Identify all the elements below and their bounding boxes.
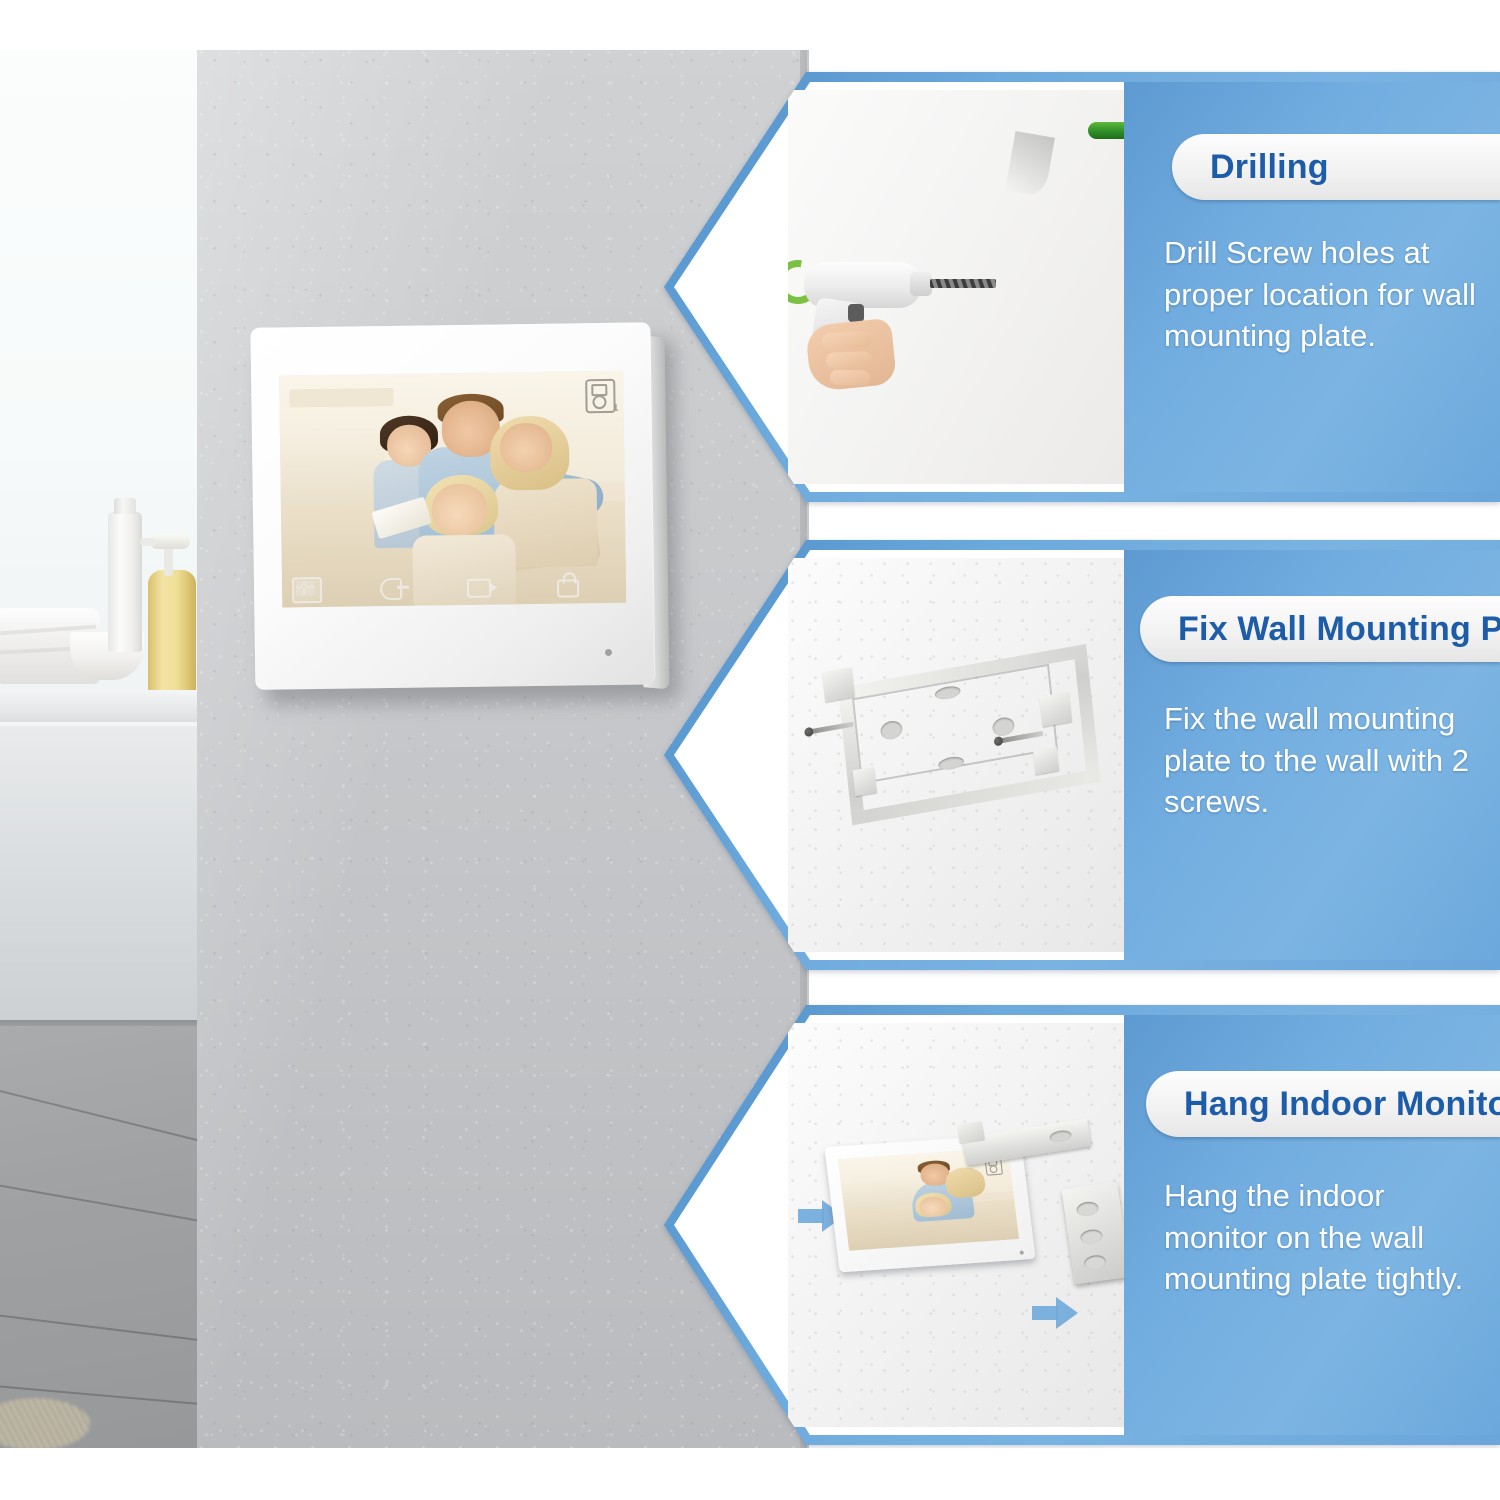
drill-bit bbox=[930, 279, 996, 288]
direction-arrow-tail-right bbox=[1032, 1306, 1058, 1320]
top-white-margin bbox=[0, 0, 1500, 50]
screen-photo bbox=[279, 371, 626, 608]
step-title-pill-hang-monitor: Hang Indoor Monitor bbox=[1146, 1071, 1500, 1137]
panel-text-area: Hang Indoor Monitor Hang the indoor moni… bbox=[1124, 1015, 1500, 1435]
monitor-microphone bbox=[605, 649, 612, 656]
step-panel-fix-plate[interactable]: Fix Wall Mounting Plate Fix the wall mou… bbox=[664, 540, 1500, 970]
photo-child-two-body bbox=[412, 535, 516, 606]
grid-icon[interactable] bbox=[292, 577, 322, 603]
finger bbox=[821, 330, 872, 350]
step-panel-hang-monitor[interactable]: Hang Indoor Monitor Hang the indoor moni… bbox=[664, 1005, 1500, 1445]
step-title-hang-monitor: Hang Indoor Monitor bbox=[1146, 1085, 1500, 1124]
step-description-fix-plate: Fix the wall mounting plate to the wall … bbox=[1164, 698, 1492, 823]
vanity-counter-front bbox=[0, 726, 200, 1026]
unlock-key-glyph bbox=[380, 578, 402, 600]
plate-keyhole-middle bbox=[1080, 1228, 1104, 1245]
camera-icon[interactable] bbox=[466, 575, 496, 601]
camera-glyph bbox=[467, 579, 491, 598]
step-title-pill-drilling: Drilling bbox=[1172, 134, 1500, 200]
direction-arrow-right bbox=[1056, 1297, 1078, 1329]
panel-text-area: Drilling Drill Screw holes at proper loc… bbox=[1124, 82, 1500, 492]
bottom-white-margin bbox=[0, 1448, 1500, 1500]
plate-tab-bottom-right bbox=[1033, 747, 1059, 775]
step-image-fix-plate bbox=[788, 558, 1124, 952]
plate-tab-bottom-left bbox=[853, 767, 877, 797]
panel-chevron-border: Fix Wall Mounting Plate Fix the wall mou… bbox=[664, 540, 1500, 970]
plate-tab-top-left bbox=[822, 667, 855, 702]
step-description-hang-monitor: Hang the indoor monitor on the wall moun… bbox=[1164, 1175, 1492, 1300]
lock-icon[interactable] bbox=[554, 573, 584, 599]
green-wall-plug bbox=[1088, 122, 1124, 139]
panel-chevron-border: Hang Indoor Monitor Hang the indoor moni… bbox=[664, 1005, 1500, 1445]
door-station-button-glyph bbox=[989, 1165, 998, 1173]
drill-trigger bbox=[848, 304, 864, 322]
photo-mother-hair bbox=[944, 1167, 987, 1199]
pump-spout bbox=[140, 538, 156, 546]
drill-chuck bbox=[910, 272, 932, 296]
direction-arrow-tail-left bbox=[798, 1209, 824, 1223]
unlock-key-icon[interactable] bbox=[378, 576, 408, 602]
door-station-icon[interactable]: 1 bbox=[585, 379, 615, 413]
step-title-pill-fix-plate: Fix Wall Mounting Plate bbox=[1140, 596, 1500, 662]
plate-keyhole-upper bbox=[1076, 1200, 1100, 1217]
wall-mounted-monitor[interactable]: 1 bbox=[250, 322, 673, 700]
panel-chevron-border: Drilling Drill Screw holes at proper loc… bbox=[664, 72, 1500, 502]
step-title-fix-plate: Fix Wall Mounting Plate bbox=[1140, 610, 1500, 649]
plate-keyhole-lower bbox=[1083, 1254, 1107, 1271]
step-description-drilling: Drill Screw holes at proper location for… bbox=[1164, 232, 1492, 357]
mounting-rail-slot bbox=[1049, 1129, 1072, 1143]
monitor-bezel: 1 bbox=[250, 322, 655, 690]
floor-grout-line bbox=[0, 1174, 200, 1232]
step-panel-drilling[interactable]: Drilling Drill Screw holes at proper loc… bbox=[664, 72, 1500, 502]
tiled-floor bbox=[0, 1026, 200, 1448]
photo-shelf bbox=[290, 388, 393, 408]
lock-glyph bbox=[557, 579, 579, 597]
grid-icon-cells bbox=[296, 581, 314, 595]
step-image-hang-monitor bbox=[788, 1023, 1124, 1427]
step-title-drilling: Drilling bbox=[1172, 148, 1339, 187]
floor-grout-line bbox=[0, 1080, 200, 1155]
indoor-monitor-small-screen bbox=[838, 1148, 1019, 1251]
plate-tab-right bbox=[1039, 692, 1072, 727]
finger bbox=[830, 369, 870, 385]
floor-grout-line bbox=[0, 1306, 200, 1349]
pump-head bbox=[150, 534, 190, 549]
photo-mother-head bbox=[500, 423, 552, 472]
door-station-badge: 1 bbox=[613, 403, 619, 414]
door-station-button-glyph bbox=[592, 395, 606, 409]
soap-pump bbox=[150, 528, 190, 576]
finger bbox=[826, 351, 873, 369]
instruction-infographic: 1 bbox=[0, 0, 1500, 1500]
step-image-drilling bbox=[788, 90, 1124, 484]
mounting-rail-tab bbox=[956, 1121, 985, 1145]
white-bottle bbox=[108, 512, 142, 652]
monitor-screen[interactable]: 1 bbox=[279, 371, 626, 608]
indoor-monitor-small-microphone bbox=[1019, 1251, 1023, 1255]
power-drill bbox=[788, 248, 950, 334]
panel-text-area: Fix Wall Mounting Plate Fix the wall mou… bbox=[1124, 550, 1500, 960]
yellow-soap-dispenser bbox=[148, 570, 196, 700]
